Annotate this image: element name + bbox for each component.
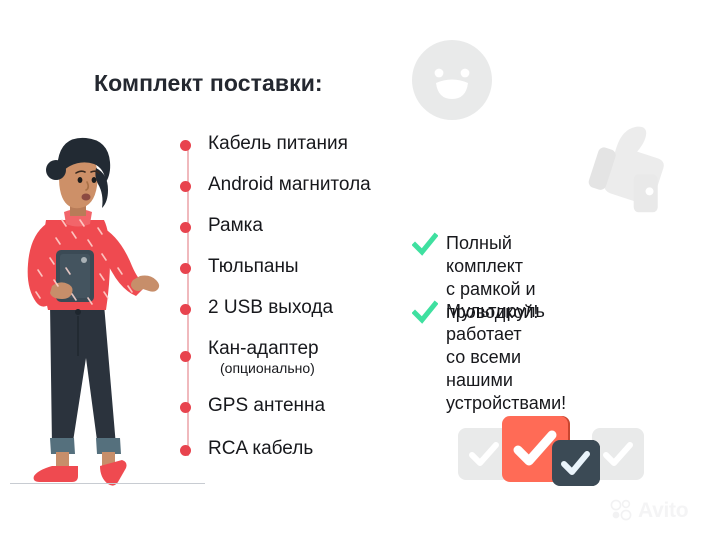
woman-pointing-illustration [12, 108, 184, 488]
thumbs-up-icon [578, 112, 682, 216]
check-icon [412, 232, 438, 258]
list-item-label: Кабель питания [208, 134, 348, 155]
smiley-face-icon [410, 38, 494, 122]
avito-watermark: Avito [610, 497, 710, 523]
checkbox-group-icon [458, 416, 644, 486]
list-item-label: 2 USB выхода [208, 298, 333, 319]
promo-banner: Комплект поставки: Кабель питания Androi… [0, 0, 720, 540]
avito-logo-icon [610, 498, 634, 522]
list-item-label: RCA кабель [208, 439, 313, 460]
list-item-label: Кан-адаптер [208, 339, 319, 360]
list-item-label: Android магнитола [208, 175, 371, 196]
checkbox-dark [552, 440, 600, 486]
ground-line [10, 483, 205, 484]
check-icon [412, 300, 438, 326]
list-item-sublabel: (опционально) [220, 361, 315, 376]
list-item-label: Тюльпаны [208, 257, 299, 278]
list-item-label: Рамка [208, 216, 263, 237]
list-item-label: GPS антенна [208, 396, 325, 417]
highlight-text: Мультируль работает со всеми нашими устр… [446, 300, 566, 415]
page-title: Комплект поставки: [94, 70, 323, 97]
watermark-label: Avito [638, 500, 688, 521]
